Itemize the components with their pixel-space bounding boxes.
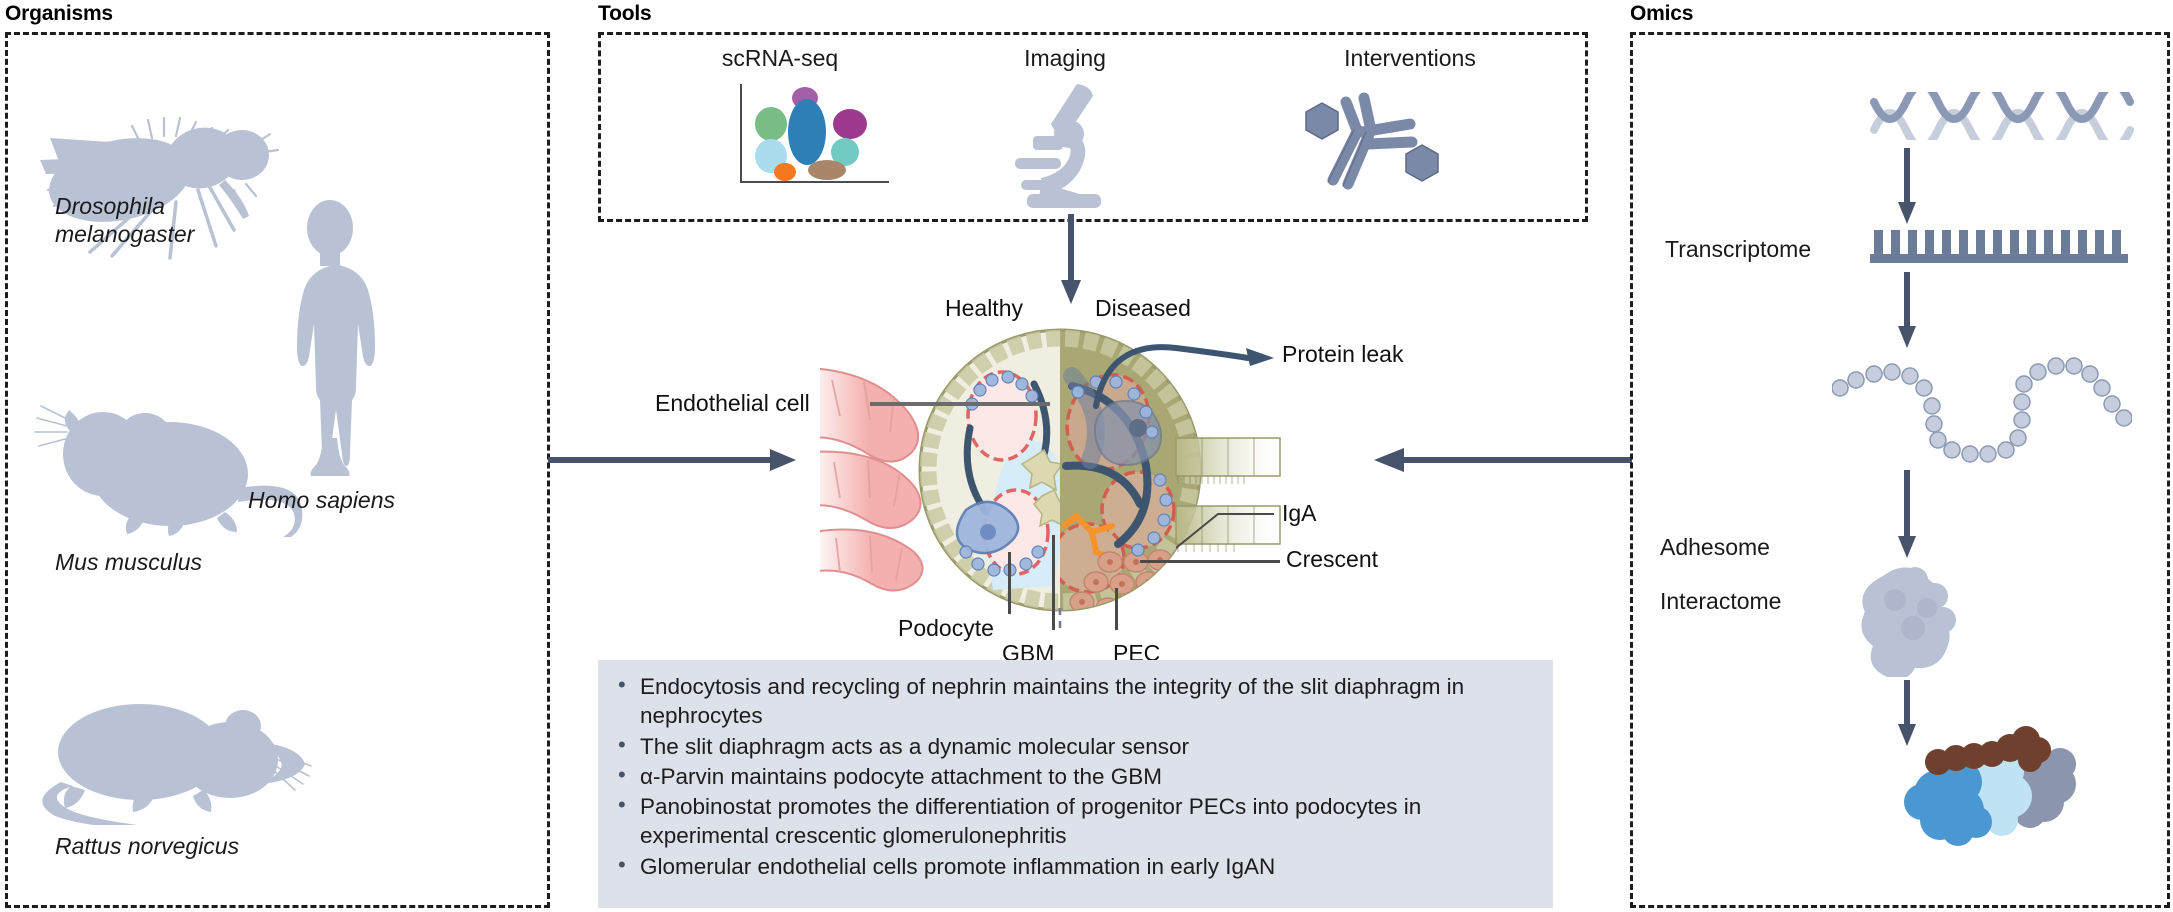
tools-to-glomerulus-arrow xyxy=(1060,214,1082,306)
tool-label-imaging: Imaging xyxy=(965,45,1165,72)
list-item: Panobinostat promotes the differentiatio… xyxy=(616,792,1535,851)
gbm-leader-line xyxy=(1052,535,1055,630)
organism-label-mouse: Mus musculus xyxy=(55,548,202,576)
tool-label-interventions: Interventions xyxy=(1280,45,1540,72)
glomerulus-callout-podocyte: Podocyte xyxy=(898,615,994,642)
organism-label-drosophila: Drosophila melanogaster xyxy=(55,192,194,248)
human-body-icon xyxy=(265,200,395,490)
list-item: α-Parvin maintains podocyte attachment t… xyxy=(616,762,1535,791)
key-findings-list: Endocytosis and recycling of nephrin mai… xyxy=(616,672,1535,881)
dna-to-transcriptome-arrow xyxy=(1896,148,1918,226)
omics-label-interactome: Interactome xyxy=(1660,588,1781,615)
scatter-plot-icon xyxy=(735,80,895,190)
list-item: Glomerular endothelial cells promote inf… xyxy=(616,852,1535,881)
podocyte-leader-line xyxy=(1008,552,1011,614)
organisms-panel-title: Organisms xyxy=(5,2,113,26)
omics-label-adhesome: Adhesome xyxy=(1660,534,1770,561)
glomerulus-label-healthy: Healthy xyxy=(945,295,1023,322)
omics-to-center-arrow xyxy=(1372,442,1632,478)
glomerulus-callout-iga: IgA xyxy=(1282,500,1317,527)
organism-label-rat: Rattus norvegicus xyxy=(55,832,239,860)
rat-icon xyxy=(25,690,345,825)
glomerulus-callout-protein-leak: Protein leak xyxy=(1282,341,1403,368)
protein-leak-arrow xyxy=(1080,330,1280,410)
list-item: The slit diaphragm acts as a dynamic mol… xyxy=(616,732,1535,761)
organism-label-human: Homo sapiens xyxy=(248,486,395,514)
list-item: Endocytosis and recycling of nephrin mai… xyxy=(616,672,1535,731)
peptide-chain-icon xyxy=(1832,348,2132,468)
organism-label-line1: Drosophila xyxy=(55,193,165,219)
transcriptome-to-peptide-arrow xyxy=(1896,272,1918,350)
mrna-comb-icon xyxy=(1868,228,2130,264)
glomerulus-callout-crescent: Crescent xyxy=(1286,546,1378,573)
omics-panel-title: Omics xyxy=(1630,2,1693,26)
organisms-to-center-arrow xyxy=(548,442,798,478)
glomerulus-label-diseased: Diseased xyxy=(1095,295,1191,322)
tool-label-scrnaseq: scRNA-seq xyxy=(665,45,895,72)
protein-complex-icon xyxy=(1898,726,2088,856)
key-findings-box: Endocytosis and recycling of nephrin mai… xyxy=(598,660,1553,908)
microscope-icon xyxy=(1005,80,1125,210)
protein-blob-icon xyxy=(1855,562,1965,677)
organism-label-line2: melanogaster xyxy=(55,221,194,247)
iga-leader-line xyxy=(1176,490,1276,550)
endothelial-cell-leader-line xyxy=(870,402,1050,406)
omics-label-transcriptome: Transcriptome xyxy=(1665,236,1811,263)
crescent-leader-line xyxy=(1140,560,1280,563)
pec-leader-line xyxy=(1115,588,1118,630)
dna-helix-icon xyxy=(1870,92,2150,140)
glomerulus-callout-endothelial-cell: Endothelial cell xyxy=(655,390,810,417)
peptide-to-protein-arrow xyxy=(1896,470,1918,560)
antibody-icon xyxy=(1288,80,1458,190)
tools-panel-title: Tools xyxy=(598,2,651,26)
